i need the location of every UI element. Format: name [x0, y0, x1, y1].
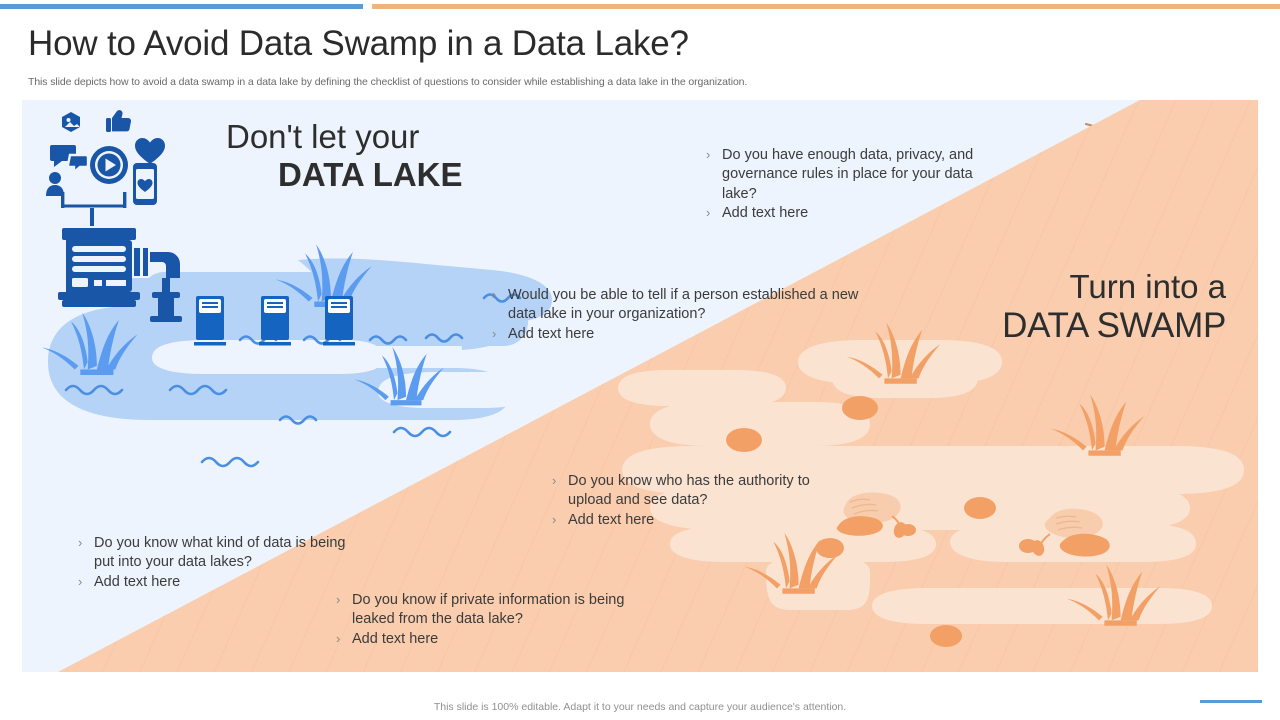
- illustration-canvas: Don't let your DATA LAKE Turn into a DAT…: [22, 100, 1258, 672]
- swamp-headline-line2: DATA SWAMP: [878, 306, 1226, 347]
- chevron-bullet-icon: ›: [492, 325, 508, 344]
- chevron-bullet-icon: ›: [552, 472, 568, 491]
- list-item: › Would you be able to tell if a person …: [492, 286, 872, 325]
- bullet-text: Add text here: [94, 573, 352, 592]
- bullet-block-kind: › Do you know what kind of data is being…: [78, 534, 352, 592]
- chevron-bullet-icon: ›: [78, 573, 94, 592]
- list-item: › Do you know who has the authority to u…: [552, 472, 824, 511]
- bullet-text: Do you have enough data, privacy, and go…: [722, 146, 974, 204]
- bullet-text: Add text here: [568, 511, 824, 530]
- top-rule-orange: [372, 4, 1280, 9]
- top-rule-blue: [0, 4, 363, 9]
- bullet-block-private: › Do you know if private information is …: [336, 591, 630, 649]
- chevron-bullet-icon: ›: [78, 534, 94, 553]
- bullet-text: Add text here: [508, 325, 872, 344]
- bullet-text: Would you be able to tell if a person es…: [508, 286, 872, 325]
- bullet-text: Do you know if private information is be…: [352, 591, 630, 630]
- bullet-text: Add text here: [352, 630, 630, 649]
- chevron-bullet-icon: ›: [336, 591, 352, 610]
- list-item: › Do you have enough data, privacy, and …: [706, 146, 974, 204]
- chevron-bullet-icon: ›: [706, 204, 722, 223]
- bullet-block-authority: › Do you know who has the authority to u…: [552, 472, 824, 530]
- mobile-phone-icon: [133, 163, 157, 205]
- list-item: › Do you know what kind of data is being…: [78, 534, 352, 573]
- chevron-bullet-icon: ›: [336, 630, 352, 649]
- slide-root: How to Avoid Data Swamp in a Data Lake? …: [0, 0, 1280, 720]
- list-item: › Add text here: [706, 204, 974, 223]
- list-item: › Add text here: [492, 325, 872, 344]
- footer-rule: [1200, 700, 1262, 703]
- bullet-block-establish: › Would you be able to tell if a person …: [492, 286, 872, 344]
- play-icon: [90, 146, 128, 184]
- bullet-text: Do you know what kind of data is being p…: [94, 534, 352, 573]
- bullet-text: Do you know who has the authority to upl…: [568, 472, 824, 511]
- page-title: How to Avoid Data Swamp in a Data Lake?: [28, 24, 689, 64]
- swamp-headline-line1: Turn into a: [878, 268, 1226, 306]
- list-item: › Add text here: [552, 511, 824, 530]
- lake-headline-line2: DATA LAKE: [204, 156, 504, 194]
- footer-note: This slide is 100% editable. Adapt it to…: [0, 701, 1280, 713]
- bullet-text: Add text here: [722, 204, 974, 223]
- list-item: › Add text here: [78, 573, 352, 592]
- chevron-bullet-icon: ›: [552, 511, 568, 530]
- chevron-bullet-icon: ›: [706, 146, 722, 165]
- page-subtitle: This slide depicts how to avoid a data s…: [28, 76, 747, 88]
- data-box-icon: [194, 296, 355, 346]
- swamp-headline: Turn into a DATA SWAMP: [878, 268, 1226, 347]
- bullet-block-governance: › Do you have enough data, privacy, and …: [706, 146, 974, 223]
- lake-headline-line1: Don't let your: [204, 118, 504, 156]
- list-item: › Add text here: [336, 630, 630, 649]
- chevron-bullet-icon: ›: [492, 286, 508, 305]
- lake-headline: Don't let your DATA LAKE: [204, 118, 504, 195]
- list-item: › Do you know if private information is …: [336, 591, 630, 630]
